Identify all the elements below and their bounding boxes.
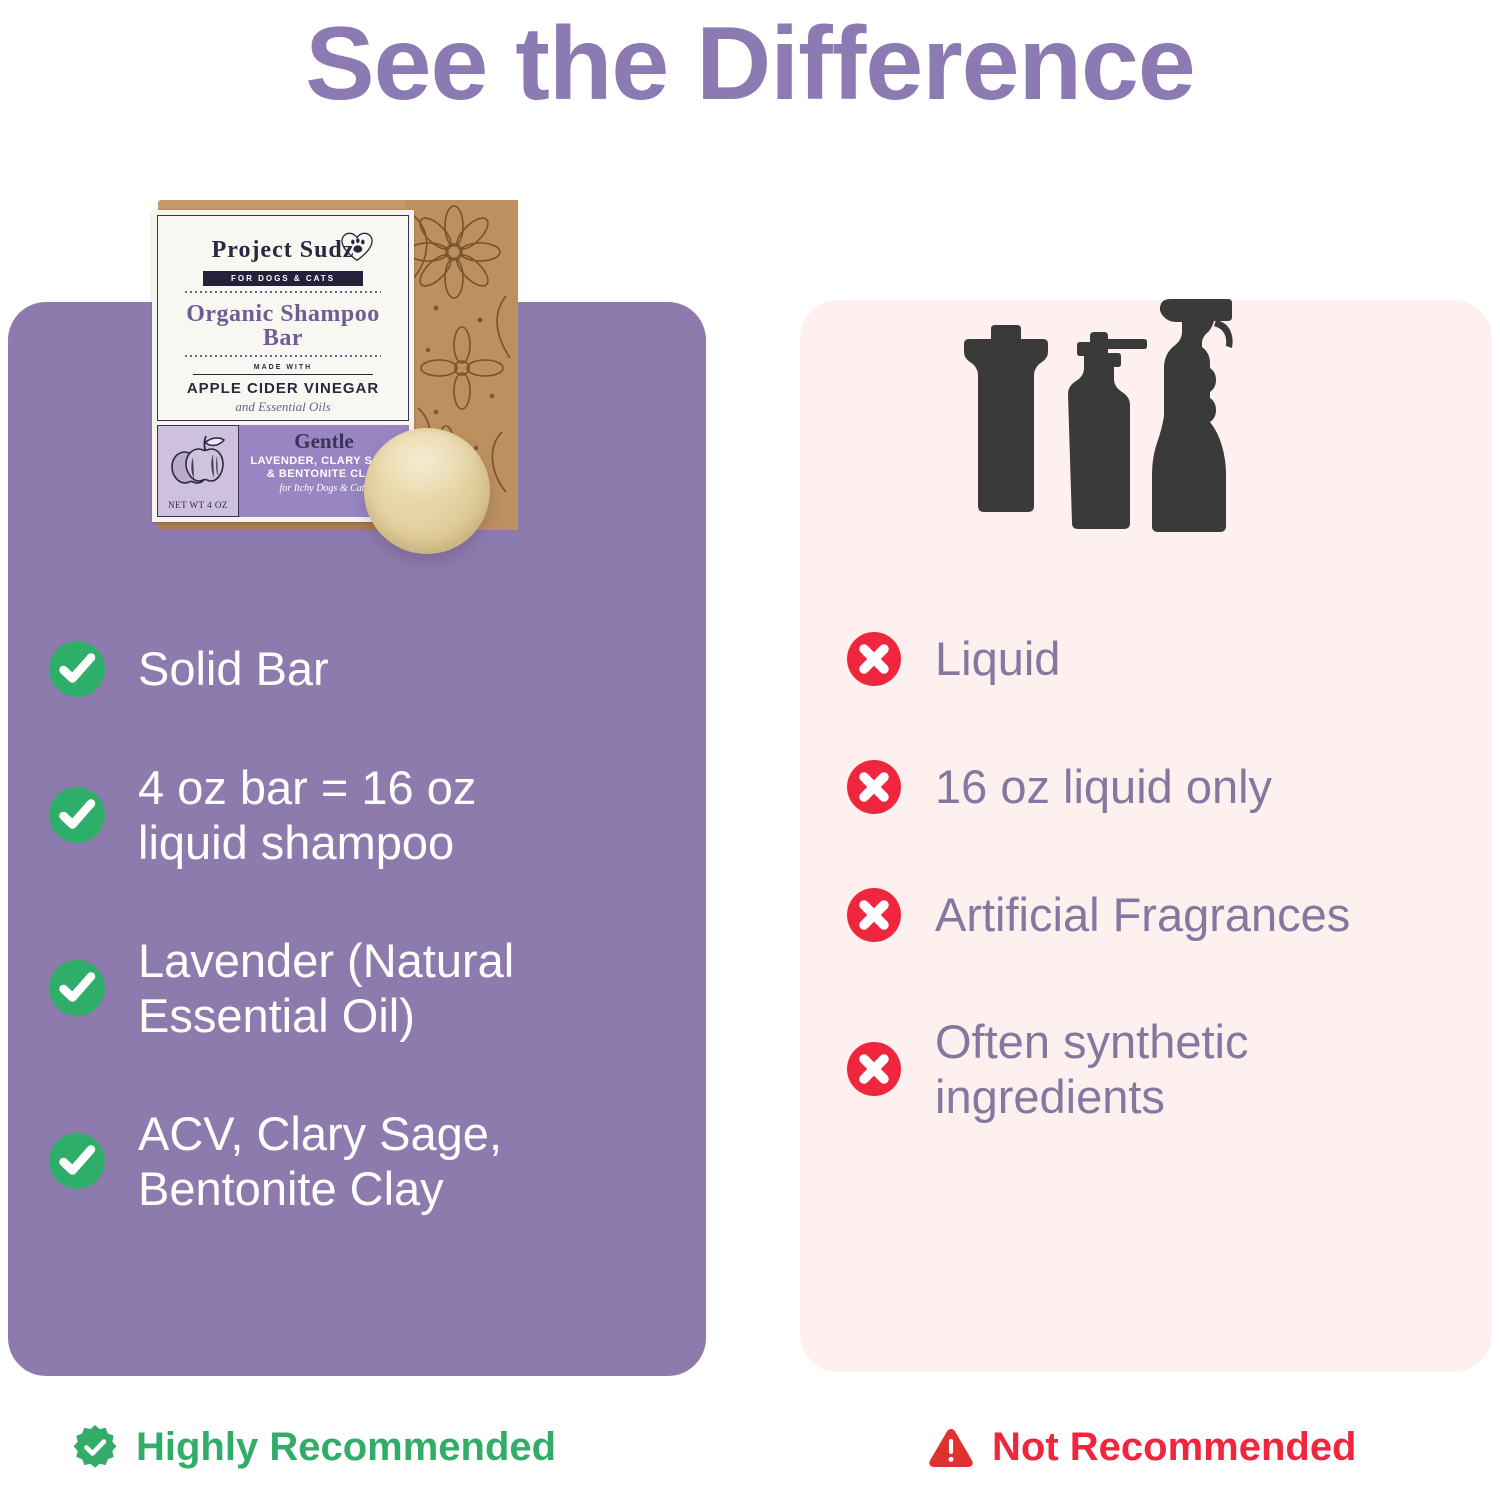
x-circle-icon — [845, 1040, 903, 1098]
check-circle-icon — [48, 959, 106, 1017]
soap-bar — [364, 428, 490, 554]
list-item: Solid Bar — [48, 640, 688, 698]
x-circle-icon — [845, 886, 903, 944]
liquid-bottles-illustration — [950, 248, 1260, 538]
apples-icon — [165, 432, 231, 488]
pump-bottle-icon — [1068, 332, 1147, 529]
list-item-label: Liquid — [935, 631, 1060, 686]
x-circle-icon — [845, 758, 903, 816]
made-with-label: MADE WITH — [166, 364, 400, 371]
check-circle-icon — [48, 640, 106, 698]
made-with-rule — [193, 374, 373, 375]
ingredient-headline: APPLE CIDER VINEGAR — [166, 380, 400, 397]
list-item-label: Solid Bar — [138, 641, 329, 696]
spray-trigger-icon — [1214, 320, 1233, 348]
list-item-label: 16 oz liquid only — [935, 759, 1272, 814]
footer-label: Not Recommended — [992, 1425, 1357, 1470]
list-item-label: Lavender (Natural Essential Oil) — [138, 933, 514, 1044]
list-item: Artificial Fragrances — [845, 886, 1475, 944]
comparison-infographic: See the Difference — [0, 0, 1500, 1488]
list-item: Liquid — [845, 630, 1475, 688]
footer-label: Highly Recommended — [136, 1425, 556, 1470]
x-circle-icon — [845, 630, 903, 688]
warning-triangle-icon — [928, 1424, 974, 1470]
ingredient-sub: and Essential Oils — [166, 399, 400, 415]
paw-heart-icon — [340, 232, 374, 262]
list-item-label: Often synthetic ingredients — [935, 1014, 1249, 1125]
dots-rule-top — [185, 291, 381, 293]
check-circle-icon — [48, 1132, 106, 1190]
spray-bottle-icon — [1152, 299, 1232, 532]
apple-illustration-cell: NET WT 4 OZ — [157, 425, 239, 517]
verified-badge-icon — [72, 1424, 118, 1470]
not-recommended-feature-list: Liquid 16 oz liquid only Artificial Frag… — [845, 630, 1475, 1125]
audience-ribbon: FOR DOGS & CATS — [203, 271, 363, 286]
list-item: ACV, Clary Sage, Bentonite Clay — [48, 1106, 688, 1217]
list-item-label: ACV, Clary Sage, Bentonite Clay — [138, 1106, 502, 1217]
footer-highly-recommended: Highly Recommended — [72, 1424, 556, 1470]
plain-bottle-icon — [964, 325, 1048, 512]
list-item: 4 oz bar = 16 oz liquid shampoo — [48, 760, 688, 871]
list-item: Often synthetic ingredients — [845, 1014, 1475, 1125]
recommended-feature-list: Solid Bar 4 oz bar = 16 oz liquid shampo… — [48, 640, 688, 1217]
list-item: 16 oz liquid only — [845, 758, 1475, 816]
label-upper-section: Project Sudz FOR DOGS & CATS Organic Sha… — [157, 215, 409, 421]
page-title: See the Difference — [0, 6, 1500, 122]
list-item-label: 4 oz bar = 16 oz liquid shampoo — [138, 760, 476, 871]
dots-rule-bottom — [185, 355, 381, 357]
net-weight: NET WT 4 OZ — [158, 500, 238, 510]
list-item: Lavender (Natural Essential Oil) — [48, 933, 688, 1044]
check-circle-icon — [48, 786, 106, 844]
footer-not-recommended: Not Recommended — [928, 1424, 1357, 1470]
product-name: Organic Shampoo Bar — [166, 302, 400, 350]
product-photo: Project Sudz FOR DOGS & CATS Organic Sha… — [152, 188, 524, 558]
list-item-label: Artificial Fragrances — [935, 887, 1350, 942]
